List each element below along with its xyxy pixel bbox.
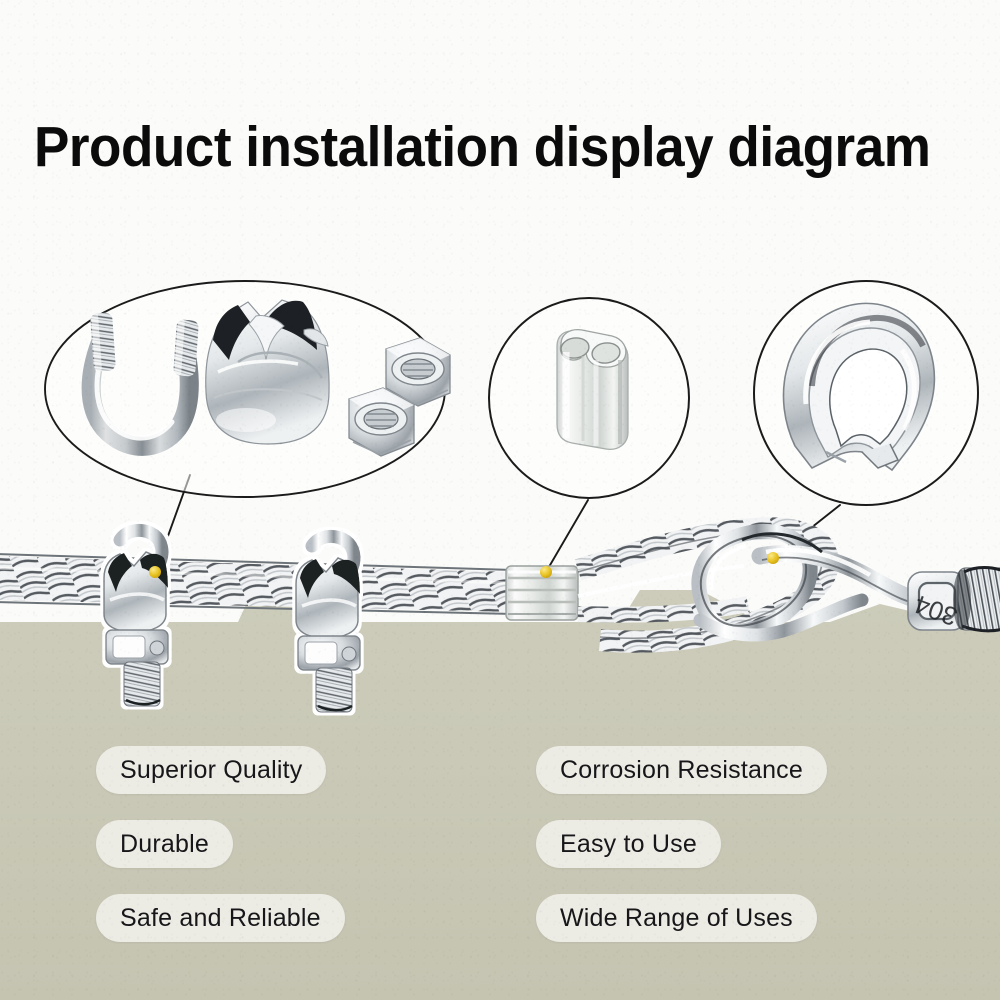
feature-pill-label: Wide Range of Uses: [560, 904, 793, 933]
feature-pill-durable[interactable]: Durable: [96, 820, 233, 868]
cable-assembly: 304: [0, 528, 1000, 712]
wire-rope-clip-installed-2: [296, 536, 360, 712]
marker-dot-clip: [149, 566, 161, 578]
wire-rope-clip-installed-1: [104, 530, 168, 706]
marker-dot-ferrule: [540, 566, 552, 578]
steel-wire-rope: [0, 554, 512, 614]
feature-pill-corrosion-resistance[interactable]: Corrosion Resistance: [536, 746, 827, 794]
feature-pill-wide-range-of-uses[interactable]: Wide Range of Uses: [536, 894, 817, 942]
feature-pill-safe-and-reliable[interactable]: Safe and Reliable: [96, 894, 345, 942]
feature-pill-superior-quality[interactable]: Superior Quality: [96, 746, 326, 794]
crimp-sleeve-icon: [557, 330, 628, 450]
callout-wire-rope-thimble[interactable]: [754, 281, 978, 505]
feature-pill-label: Safe and Reliable: [120, 904, 321, 933]
feature-pill-label: Durable: [120, 830, 209, 859]
product-diagram-page: 304: [0, 0, 1000, 1000]
feature-pill-label: Corrosion Resistance: [560, 756, 803, 785]
feature-pill-label: Superior Quality: [120, 756, 302, 785]
callout-wire-rope-clip[interactable]: [45, 281, 450, 497]
page-title: Product installation display diagram: [34, 118, 908, 178]
feature-pill-easy-to-use[interactable]: Easy to Use: [536, 820, 721, 868]
callout-aluminum-ferrule[interactable]: [489, 298, 689, 498]
clamp-saddle-icon: [206, 300, 329, 444]
threaded-eye-bolt: 304: [908, 568, 1000, 633]
marker-dot-thimble: [767, 552, 779, 564]
feature-pill-label: Easy to Use: [560, 830, 697, 859]
